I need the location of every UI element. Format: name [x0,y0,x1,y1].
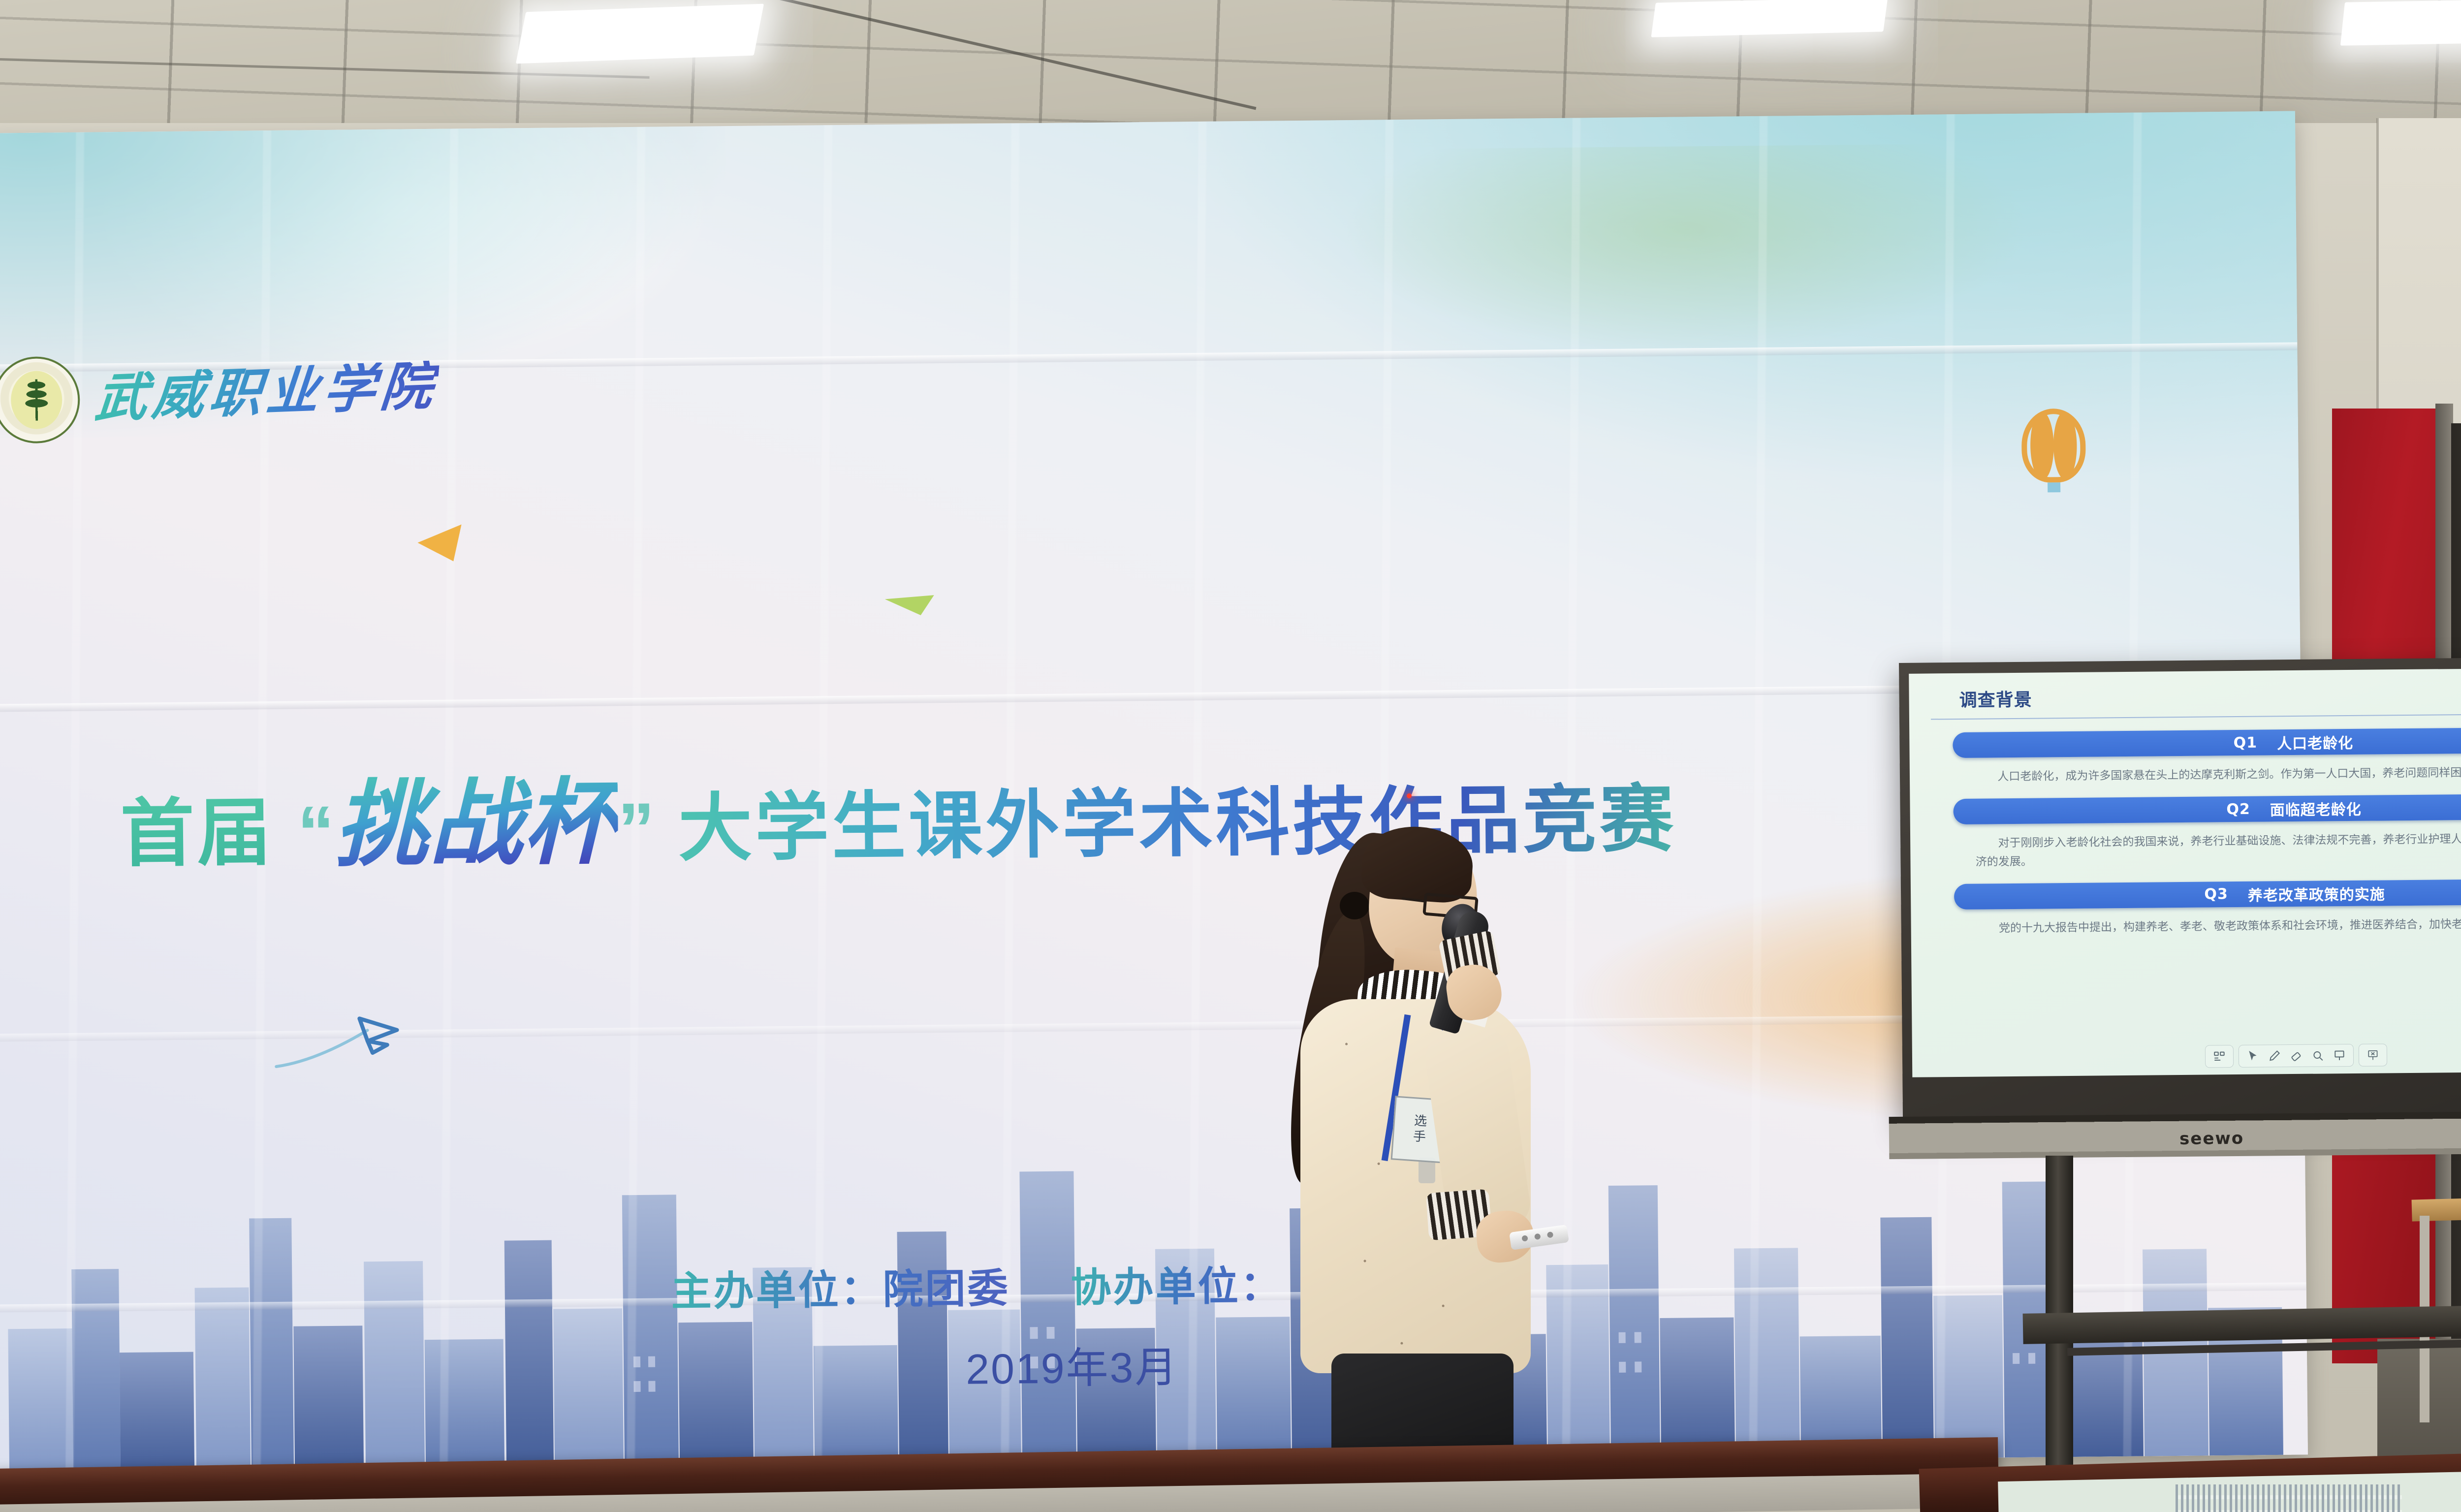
presentation-toolbar[interactable] [2205,1043,2387,1068]
title-highlight: 挑战杯 [334,772,618,878]
paper-document-text [2176,1484,2402,1512]
slide-item-title: 面临超老龄化 [2270,797,2362,820]
slide-item-number: Q1 [2234,734,2258,751]
pen-icon[interactable] [2265,1047,2284,1064]
slide-item-title: 人口老龄化 [2277,731,2353,753]
lecture-hall-photo: 武威职业学院 首届 “挑战杯” 大学生课外学术科技作品竞赛 主办单位：院团委 协… [0,0,2461,1512]
hair-tie [1340,892,1369,919]
laser-pointer-dot [1407,793,1412,798]
event-date: 2019年3月 [966,1332,1179,1396]
paper-plane-icon [271,1010,399,1071]
slide-item-body-q2: 对于刚刚步入老龄化社会的我国来说，养老行业基础设施、法律法规不完善，养老行业护理… [1975,829,2461,871]
toolbar-group-tools[interactable] [2239,1044,2354,1068]
school-name-text: 武威职业学院 [93,360,440,426]
title-quote-close: ” [618,787,656,871]
slide-item-heading-q1: Q1 人口老龄化 [1953,726,2461,758]
hot-air-balloon-icon [2021,409,2086,483]
ceiling-light-panel [516,4,764,64]
ceiling-light-panel [2340,0,2461,46]
thumbnails-grid-icon[interactable] [2209,1048,2229,1065]
slide-item-number: Q2 [2226,801,2250,818]
slide-title: 调查背景 [1959,680,2461,712]
toolbar-group-exit[interactable] [2359,1043,2387,1067]
presentation-slide: 调查背景 Q1 人口老龄化 人口老龄化，成为许多国家悬在头上的达摩克利斯之剑。作… [1909,667,2461,1077]
slide-item-heading-q3: Q3 养老改革政策的实施 [1954,878,2461,910]
exit-presentation-icon[interactable] [2363,1046,2383,1063]
display-brand-label: seewo [2179,1129,2244,1149]
display-screen[interactable]: 调查背景 Q1 人口老龄化 人口老龄化，成为许多国家悬在头上的达摩克利斯之剑。作… [1909,667,2461,1077]
slide-title-divider [1931,713,2461,720]
pointer-icon[interactable] [2243,1048,2263,1065]
slide-item-number: Q3 [2204,885,2228,903]
slide-item-heading-q2: Q2 面临超老龄化 [1954,793,2461,824]
presenter: 选手 4 [1245,787,1590,1477]
slide-item-title: 养老改革政策的实施 [2248,882,2385,905]
display-bottom-bezel: seewo [1889,1110,2461,1159]
title-quote-open: “ [297,790,335,874]
toolbar-group-thumbnails[interactable] [2205,1045,2234,1068]
ceiling-light-panel [1651,0,1888,37]
presentation-screen-icon[interactable] [2330,1047,2349,1064]
logo-tree-emblem [22,379,51,421]
host-unit-label: 主办单位：院团委 [671,1256,1010,1318]
eraser-icon[interactable] [2286,1047,2306,1064]
slide-item-body-q3: 党的十九大报告中提出，构建养老、孝老、敬老政策体系和社会环境，推进医养结合，加快… [1976,913,2461,938]
interactive-display-panel[interactable]: 调查背景 Q1 人口老龄化 人口老龄化，成为许多国家悬在头上的达摩克利斯之剑。作… [1899,656,2461,1121]
title-prefix: 首届 [120,791,275,875]
magnifier-icon[interactable] [2308,1047,2328,1064]
slide-item-body-q1: 人口老龄化，成为许多国家悬在头上的达摩克利斯之剑。作为第一人口大国，养老问题同样… [1975,762,2461,786]
badge-label: 选手 [1409,1113,1429,1146]
